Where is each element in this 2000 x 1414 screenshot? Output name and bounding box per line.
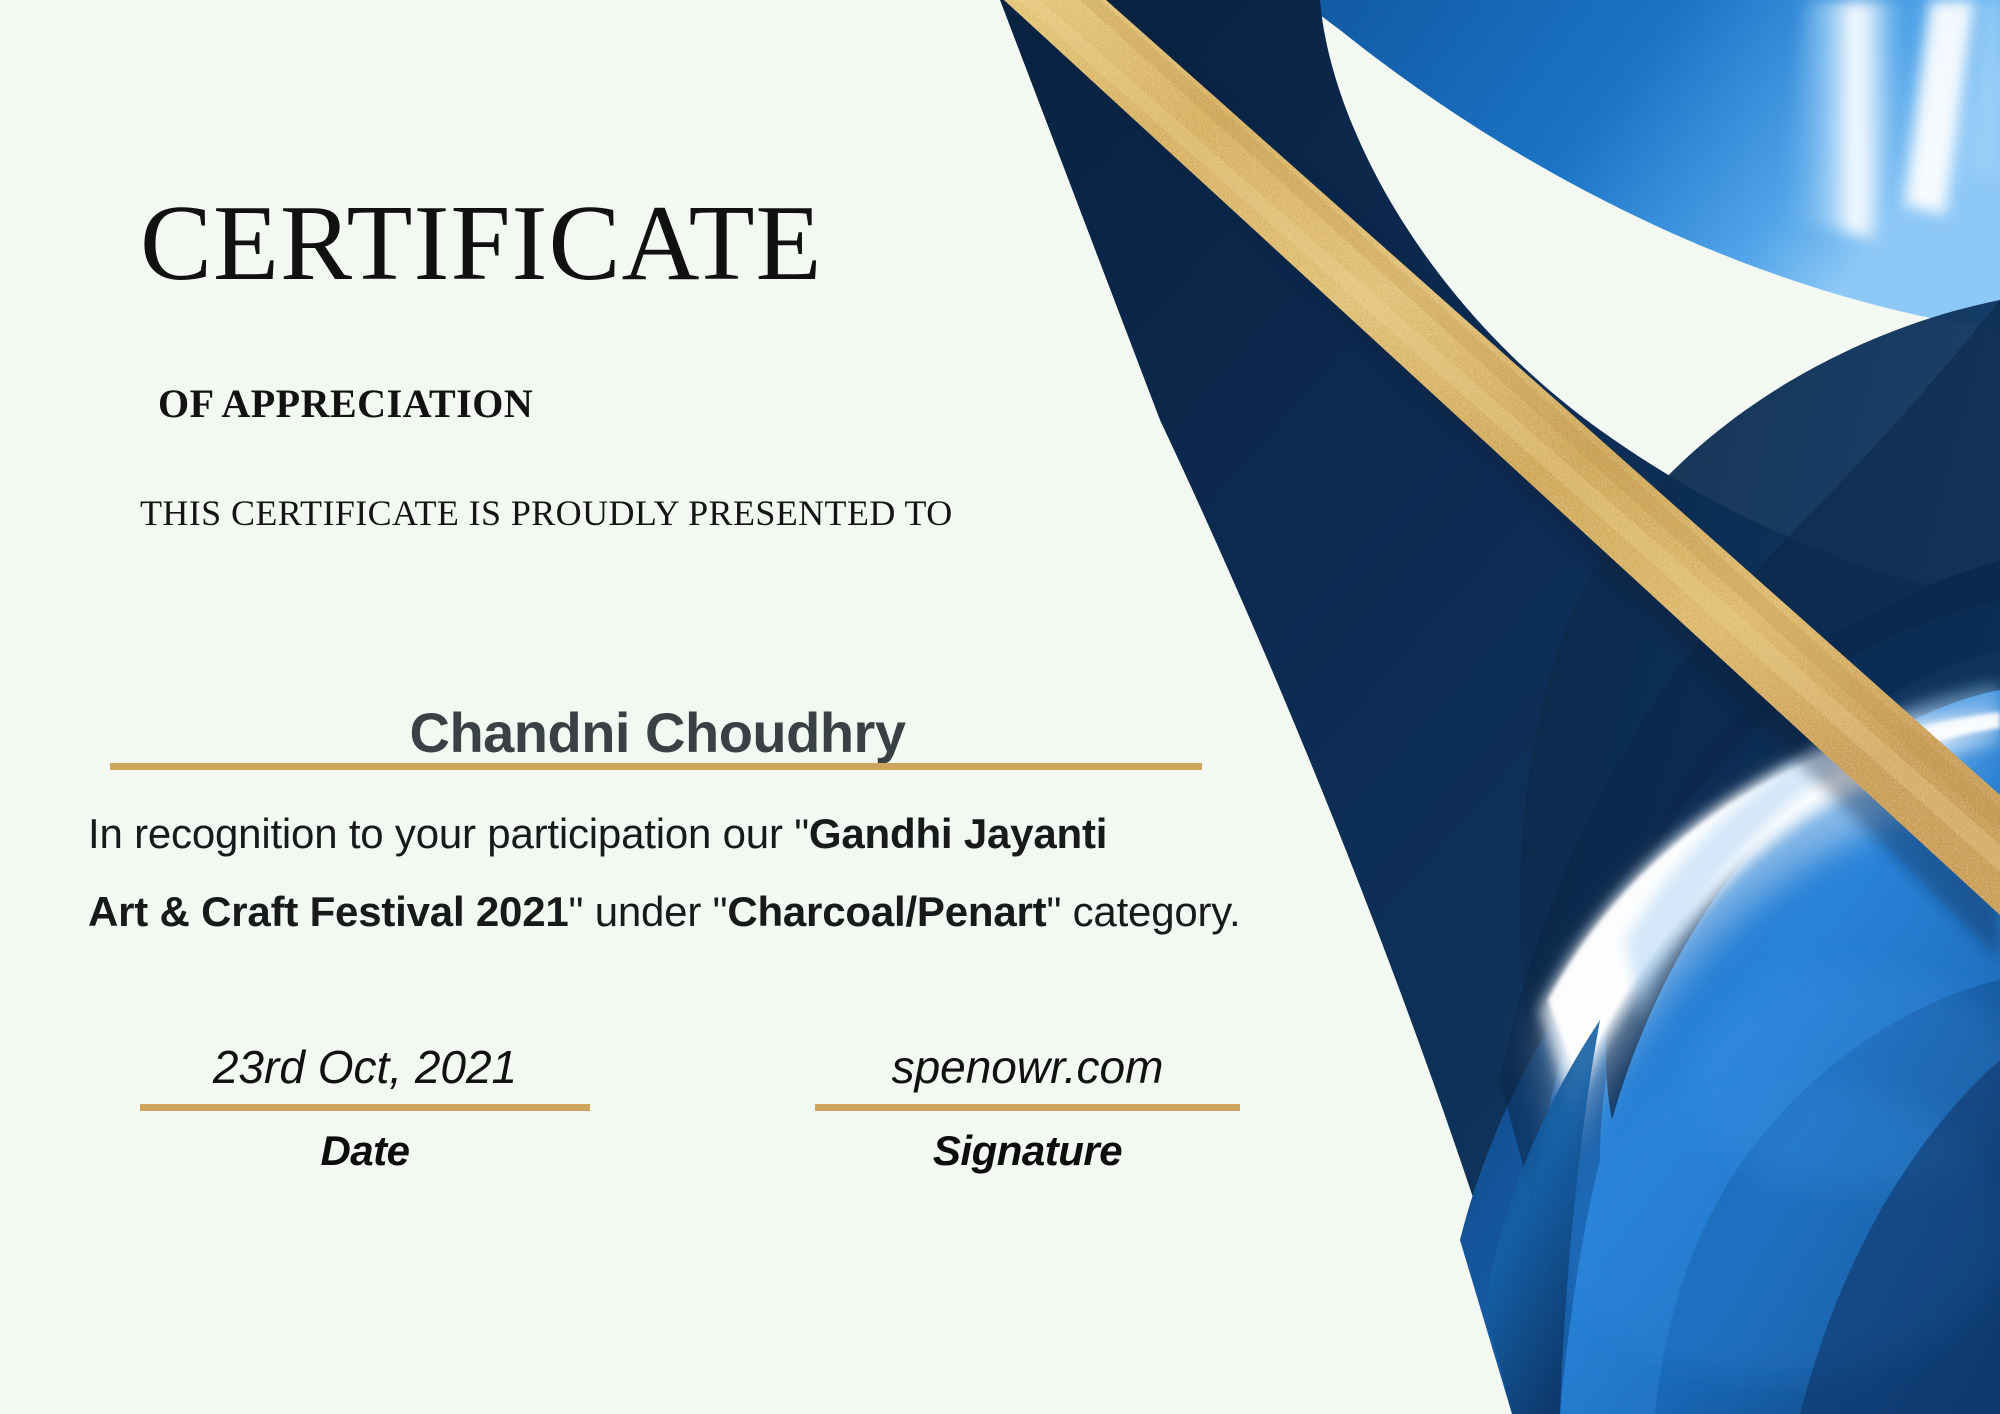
certificate-canvas: CERTIFICATE OF APPRECIATION THIS CERTIFI…: [0, 0, 2000, 1414]
certificate-subtitle: OF APPRECIATION: [158, 380, 533, 427]
date-column: 23rd Oct, 2021 Date: [140, 1040, 590, 1175]
signature-underline: [815, 1104, 1240, 1111]
recipient-name-underline: [110, 763, 1202, 770]
citation-text: In recognition to your participation our…: [88, 795, 1278, 951]
date-label: Date: [140, 1127, 590, 1175]
page-title: CERTIFICATE: [140, 190, 823, 298]
citation-line1-prefix: In recognition to your participation our…: [88, 810, 809, 857]
event-name-part1: Gandhi Jayanti: [809, 810, 1107, 857]
citation-line2-mid: " under ": [569, 888, 728, 935]
citation-line2-suffix: " category.: [1046, 888, 1240, 935]
event-name-part2: Art & Craft Festival 2021: [88, 888, 569, 935]
signature-label: Signature: [815, 1127, 1240, 1175]
signature-value: spenowr.com: [815, 1040, 1240, 1104]
recipient-name: Chandni Choudhry: [110, 700, 1205, 765]
signature-column: spenowr.com Signature: [815, 1040, 1240, 1175]
category-name: Charcoal/Penart: [727, 888, 1046, 935]
presented-to-label: THIS CERTIFICATE IS PROUDLY PRESENTED TO: [140, 492, 953, 534]
certificate-content: CERTIFICATE OF APPRECIATION THIS CERTIFI…: [0, 0, 1300, 1414]
date-underline: [140, 1104, 590, 1111]
date-value: 23rd Oct, 2021: [140, 1040, 590, 1104]
